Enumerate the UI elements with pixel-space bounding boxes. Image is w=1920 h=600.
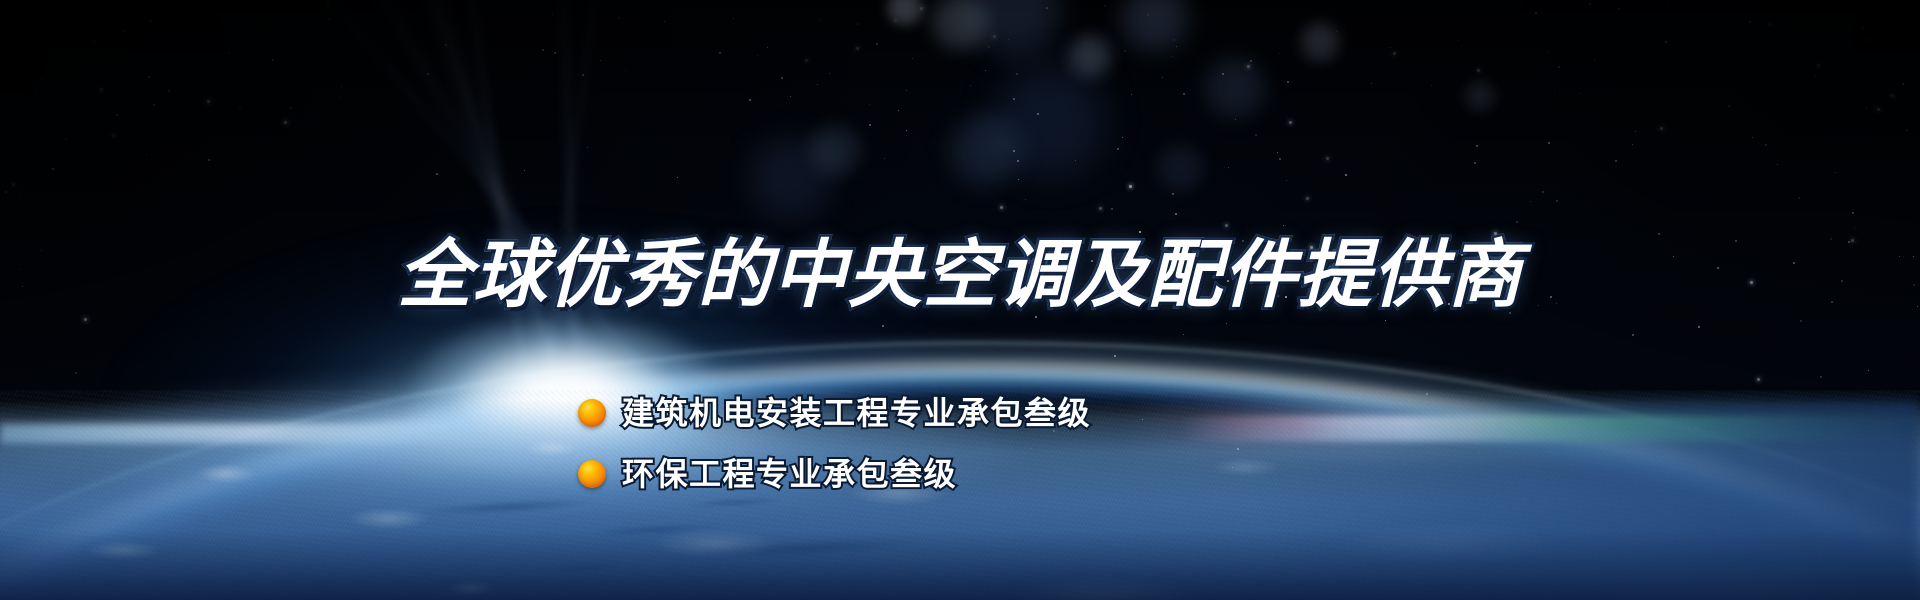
banner-headline-text: 全球优秀的中央空调及配件提供商 <box>398 233 1523 316</box>
banner-bullet-list: 建筑机电安装工程专业承包叁级 环保工程专业承包叁级 <box>578 392 1091 514</box>
banner-stage: 全球优秀的中央空调及配件提供商 建筑机电安装工程专业承包叁级 环保工程专业承包叁… <box>0 0 1920 600</box>
bullet-label: 环保工程专业承包叁级 <box>622 458 957 490</box>
list-item: 建筑机电安装工程专业承包叁级 <box>578 392 1091 434</box>
orange-sphere-bullet-icon <box>578 460 606 488</box>
orange-sphere-bullet-icon <box>578 399 606 427</box>
bullet-label: 建筑机电安装工程专业承包叁级 <box>622 397 1091 429</box>
banner-content: 全球优秀的中央空调及配件提供商 建筑机电安装工程专业承包叁级 环保工程专业承包叁… <box>0 0 1920 600</box>
list-item: 环保工程专业承包叁级 <box>578 453 1091 495</box>
banner-headline: 全球优秀的中央空调及配件提供商 <box>0 238 1920 312</box>
